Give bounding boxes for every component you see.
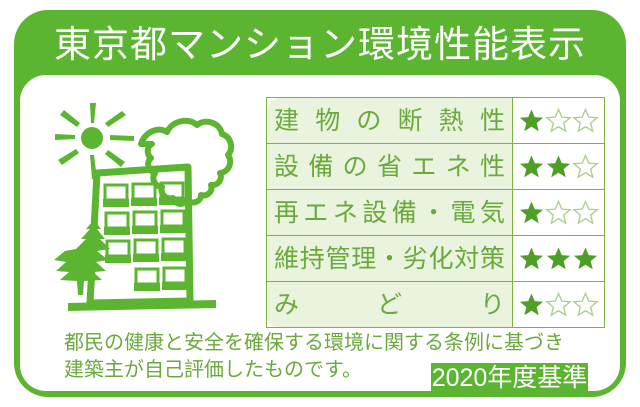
- table-row: 維持管理・劣化対策: [267, 236, 605, 282]
- star-filled-icon: [518, 245, 545, 272]
- table-row: みどり: [267, 282, 605, 328]
- footnote-line-2: 建築主が自己評価したものです。: [64, 357, 484, 384]
- footnote-line-1: 都民の健康と安全を確保する環境に関する条例に基づき: [64, 330, 484, 357]
- rating-stars-cell: [513, 236, 605, 282]
- rating-stars-cell: [513, 98, 605, 144]
- rating-label: 再エネ設備・電気: [274, 191, 505, 235]
- table-row: 設備の省エネ性: [267, 144, 605, 190]
- rating-label: 維持管理・劣化対策: [274, 237, 505, 281]
- star-filled-icon: [518, 107, 545, 134]
- conifer-tree-icon: [54, 220, 110, 295]
- standard-year-badge: 2020年度基準: [431, 363, 588, 391]
- star-filled-icon: [518, 291, 545, 318]
- star-filled-icon: [518, 153, 545, 180]
- star-filled-icon: [545, 153, 572, 180]
- rating-label-cell: 設備の省エネ性: [267, 144, 513, 190]
- green-outer-panel: 東京都マンション環境性能表示: [14, 10, 626, 397]
- rating-label: 建物の断熱性: [274, 99, 505, 143]
- star-empty-icon: [545, 291, 572, 318]
- star-empty-icon: [545, 199, 572, 226]
- white-inner-card: 建物の断熱性: [20, 75, 620, 391]
- table-row: 建物の断熱性: [267, 98, 605, 144]
- star-empty-icon: [572, 291, 599, 318]
- rating-label: 設備の省エネ性: [274, 145, 505, 189]
- star-filled-icon: [545, 245, 572, 272]
- star-empty-icon: [572, 153, 599, 180]
- rating-label-cell: 建物の断熱性: [267, 98, 513, 144]
- star-empty-icon: [572, 199, 599, 226]
- ratings-table-body: 建物の断熱性: [267, 98, 605, 328]
- apartment-building-icon: [90, 167, 190, 303]
- rating-label: みどり: [274, 283, 505, 327]
- star-filled-icon: [518, 199, 545, 226]
- rating-label-cell: 再エネ設備・電気: [267, 190, 513, 236]
- eco-building-illustration: [40, 89, 260, 329]
- table-row: 再エネ設備・電気: [267, 190, 605, 236]
- rating-stars-cell: [513, 144, 605, 190]
- sun-icon: [55, 103, 134, 179]
- environmental-performance-label: 東京都マンション環境性能表示: [0, 0, 640, 407]
- footnote: 都民の健康と安全を確保する環境に関する条例に基づき 建築主が自己評価したものです…: [64, 330, 484, 384]
- rating-stars-cell: [513, 282, 605, 328]
- ratings-table: 建物の断熱性: [266, 97, 605, 328]
- rating-label-cell: 維持管理・劣化対策: [267, 236, 513, 282]
- star-empty-icon: [545, 107, 572, 134]
- rating-label-cell: みどり: [267, 282, 513, 328]
- rating-stars-cell: [513, 190, 605, 236]
- page-title: 東京都マンション環境性能表示: [14, 21, 626, 69]
- star-empty-icon: [572, 107, 599, 134]
- star-filled-icon: [572, 245, 599, 272]
